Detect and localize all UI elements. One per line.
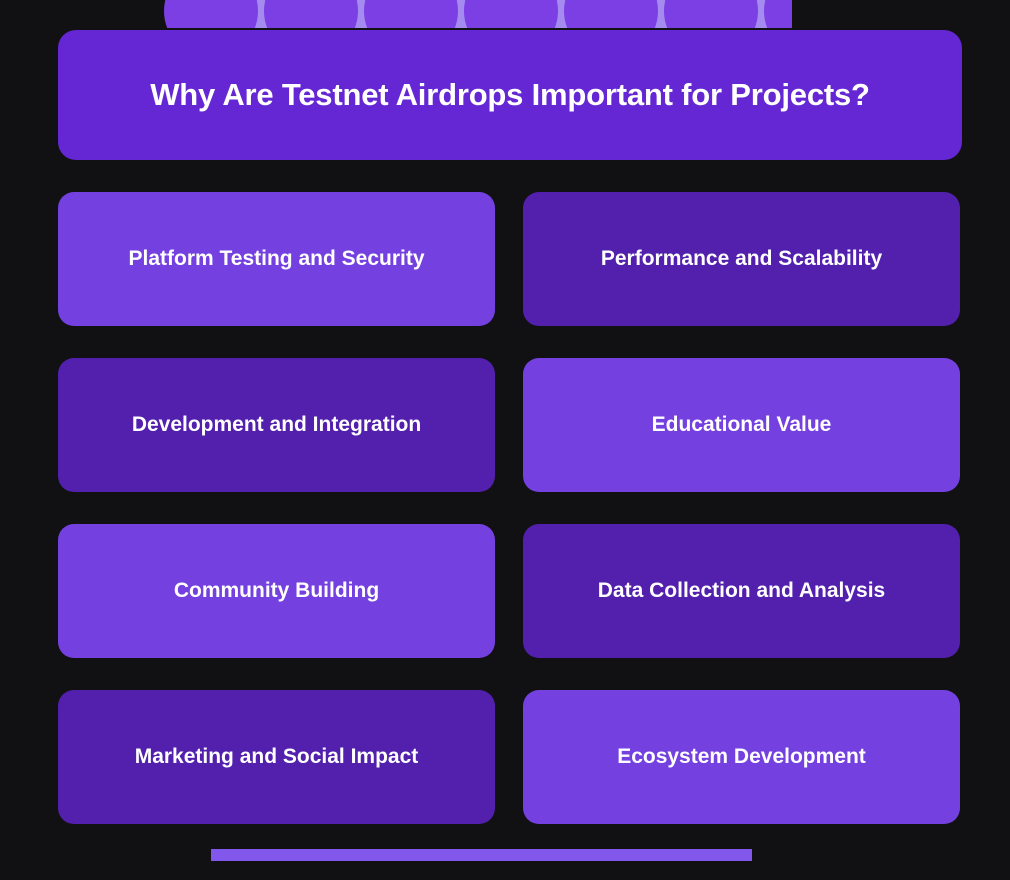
benefit-card[interactable]: Community Building <box>58 524 495 658</box>
benefit-card[interactable]: Ecosystem Development <box>523 690 960 824</box>
decor-circle <box>514 0 608 28</box>
decor-circle <box>314 0 408 28</box>
page-title: Why Are Testnet Airdrops Important for P… <box>150 77 870 113</box>
decor-circle <box>664 0 758 28</box>
decor-circle <box>164 0 258 28</box>
benefit-card-label: Development and Integration <box>132 412 421 437</box>
benefit-card[interactable]: Performance and Scalability <box>523 192 960 326</box>
benefit-card[interactable]: Marketing and Social Impact <box>58 690 495 824</box>
footer-area <box>0 849 1010 863</box>
decor-circle <box>214 0 308 28</box>
decor-circle <box>264 0 358 28</box>
decor-circle <box>364 0 458 28</box>
decor-circle <box>614 0 708 28</box>
benefit-card-label: Platform Testing and Security <box>129 246 425 271</box>
decor-circle <box>564 0 658 28</box>
decor-circle <box>464 0 558 28</box>
benefit-card[interactable]: Platform Testing and Security <box>58 192 495 326</box>
benefit-card[interactable]: Data Collection and Analysis <box>523 524 960 658</box>
infographic-body: Why Are Testnet Airdrops Important for P… <box>58 30 962 824</box>
decor-circle <box>764 0 792 28</box>
benefit-card[interactable]: Educational Value <box>523 358 960 492</box>
accent-bar <box>211 849 752 861</box>
decor-circle <box>414 0 508 28</box>
title-banner: Why Are Testnet Airdrops Important for P… <box>58 30 962 160</box>
decor-circle <box>714 0 792 28</box>
benefit-card[interactable]: Development and Integration <box>58 358 495 492</box>
benefit-card-label: Data Collection and Analysis <box>598 578 885 603</box>
benefit-card-label: Marketing and Social Impact <box>135 744 419 769</box>
benefit-card-grid: Platform Testing and SecurityPerformance… <box>58 192 962 824</box>
benefit-card-label: Performance and Scalability <box>601 246 882 271</box>
benefit-card-label: Educational Value <box>652 412 832 437</box>
benefit-card-label: Community Building <box>174 578 379 603</box>
decorative-circle-strip <box>164 0 792 28</box>
benefit-card-label: Ecosystem Development <box>617 744 866 769</box>
